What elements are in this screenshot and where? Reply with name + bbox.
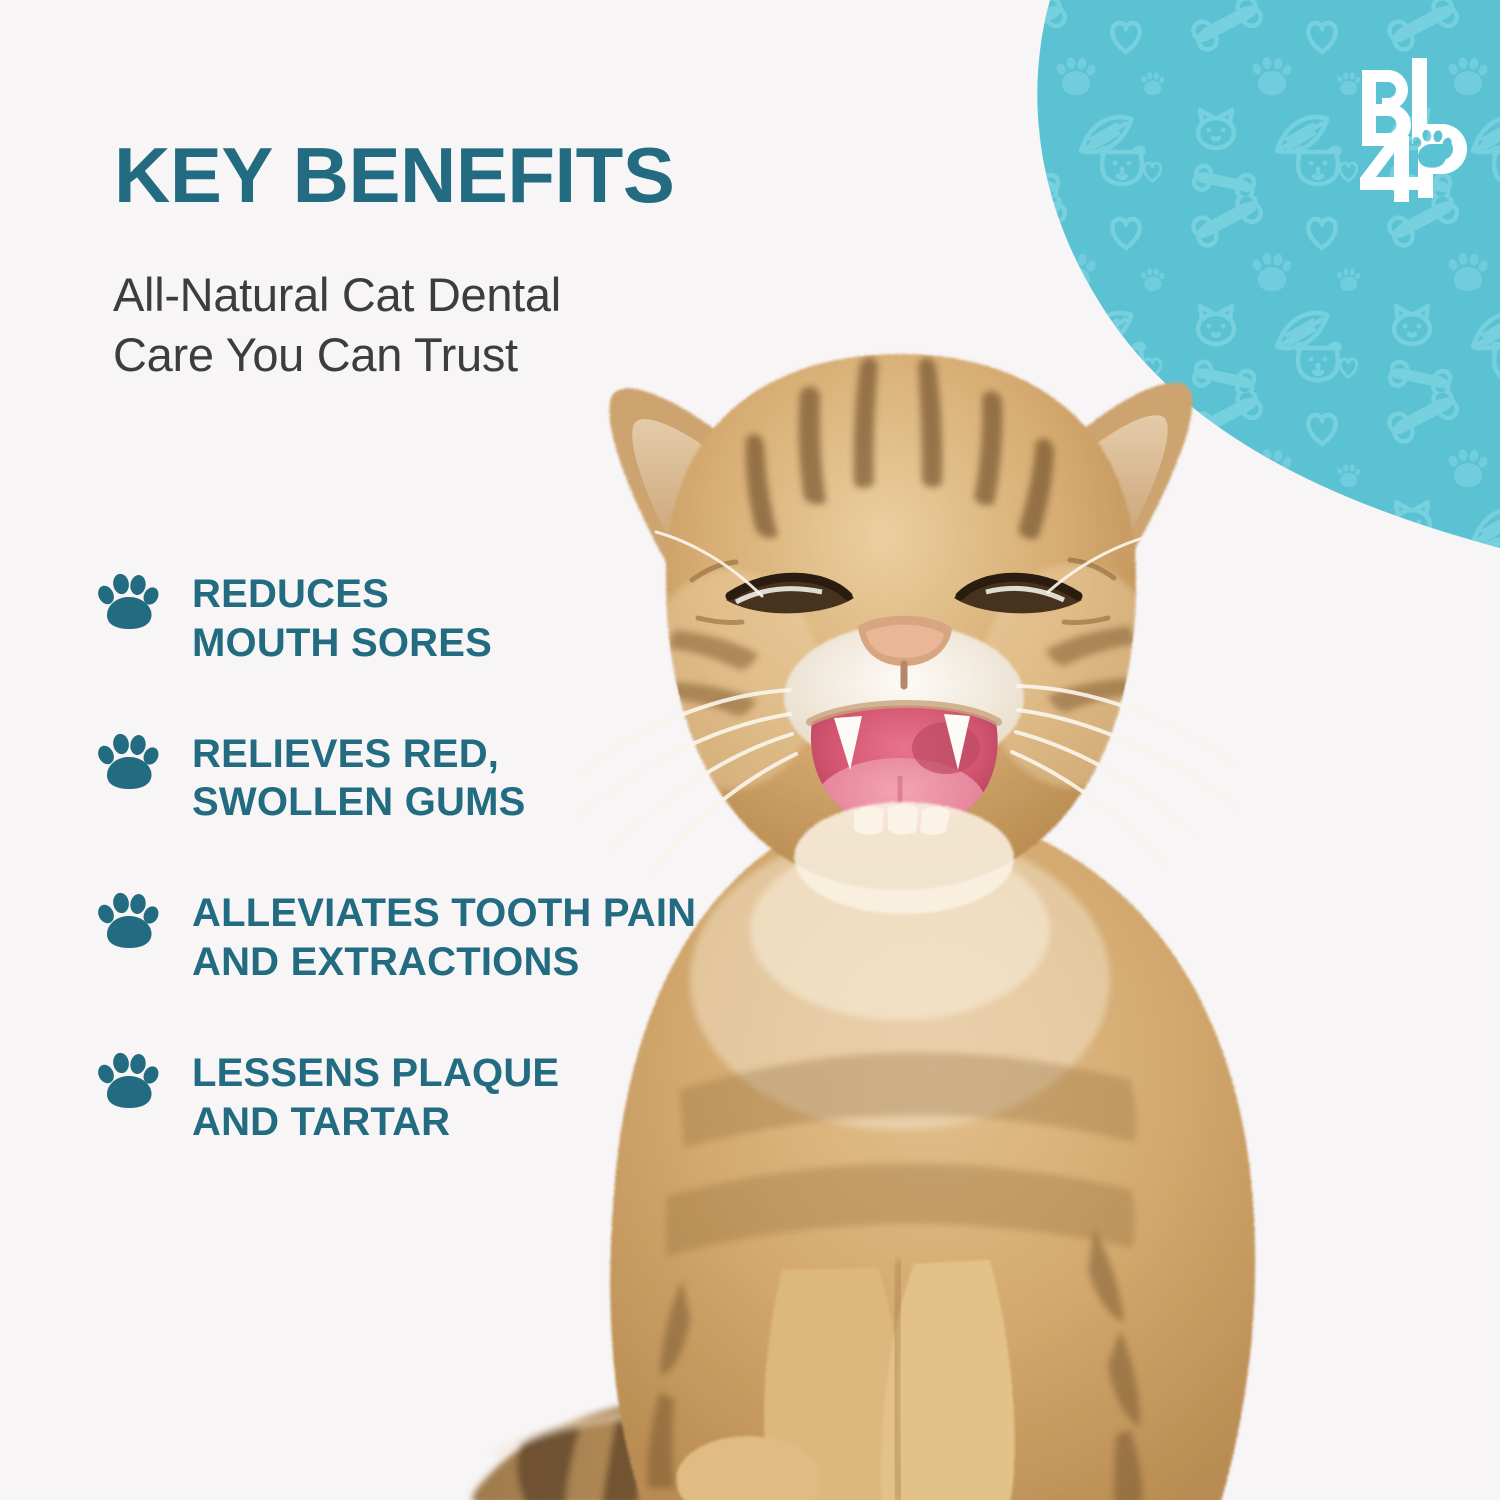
benefit-line: REDUCES [192, 570, 492, 619]
logo-letter-p [1418, 124, 1467, 198]
benefit-item-alleviates-tooth-pain: ALLEVIATES TOOTH PAIN AND EXTRACTIONS [98, 887, 888, 987]
paw-print-icon [98, 572, 160, 634]
benefit-line: ALLEVIATES TOOTH PAIN [192, 889, 696, 938]
benefit-label: RELIEVES RED, SWOLLEN GUMS [192, 728, 526, 828]
benefit-item-relieves-red-swollen-gums: RELIEVES RED, SWOLLEN GUMS [98, 728, 888, 828]
cat-ears [609, 383, 1192, 580]
benefit-label: REDUCES MOUTH SORES [192, 568, 492, 668]
paw-print-icon [98, 732, 160, 794]
logo-letter-b [1362, 70, 1411, 146]
page-subtitle: All-Natural Cat Dental Care You Can Trus… [113, 265, 773, 384]
cat-front-legs [676, 1260, 1015, 1500]
benefit-line: LESSENS PLAQUE [192, 1049, 559, 1098]
page-title: KEY BENEFITS [114, 136, 674, 214]
paw-print-icon [98, 891, 160, 953]
benefits-list: REDUCES MOUTH SORES RELIEVES RED, [98, 568, 888, 1146]
benefit-line: AND TARTAR [192, 1098, 559, 1147]
benefit-line: SWOLLEN GUMS [192, 778, 526, 827]
benefit-line: MOUTH SORES [192, 619, 492, 668]
infographic-canvas: KEY BENEFITS All-Natural Cat Dental Care… [0, 0, 1500, 1500]
brand-logo [1356, 52, 1468, 202]
benefit-item-reduces-mouth-sores: REDUCES MOUTH SORES [98, 568, 888, 668]
benefit-line: RELIEVES RED, [192, 730, 526, 779]
benefit-label: LESSENS PLAQUE AND TARTAR [192, 1047, 559, 1147]
paw-print-icon [98, 1051, 160, 1113]
subtitle-line-1: All-Natural Cat Dental [113, 265, 773, 325]
cat-tail [472, 1390, 837, 1500]
subtitle-line-2: Care You Can Trust [113, 325, 773, 385]
benefit-line: AND EXTRACTIONS [192, 938, 696, 987]
benefit-label: ALLEVIATES TOOTH PAIN AND EXTRACTIONS [192, 887, 696, 987]
benefit-item-lessens-plaque-and-tartar: LESSENS PLAQUE AND TARTAR [98, 1047, 888, 1147]
